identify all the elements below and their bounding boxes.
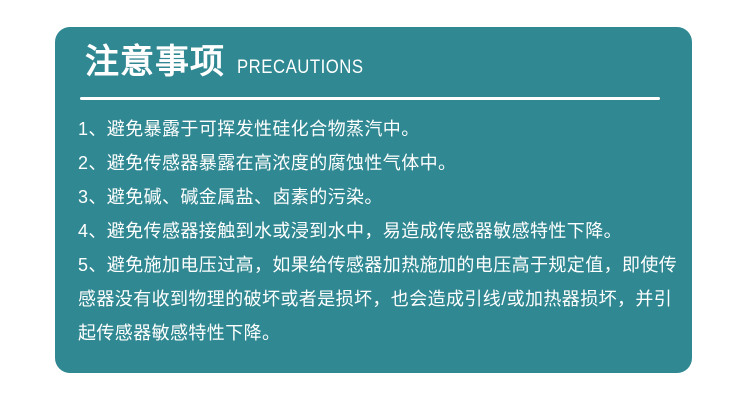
list-item: 3、避免碱、碱金属盐、卤素的污染。 bbox=[78, 180, 678, 214]
header-divider bbox=[80, 97, 660, 100]
precaution-list: 1、避免暴露于可挥发性硅化合物蒸汽中。 2、避免传感器暴露在高浓度的腐蚀性气体中… bbox=[78, 112, 678, 350]
list-item: 5、避免施加电压过高，如果给传感器加热施加的电压高于规定值，即使传感器没有收到物… bbox=[78, 248, 678, 350]
page-title-chinese: 注意事项 bbox=[85, 45, 225, 79]
precautions-card: 注意事项 PRECAUTIONS 1、避免暴露于可挥发性硅化合物蒸汽中。 2、避… bbox=[55, 27, 692, 373]
list-item: 4、避免传感器接触到水或浸到水中，易造成传感器敏感特性下降。 bbox=[78, 214, 678, 248]
list-item: 1、避免暴露于可挥发性硅化合物蒸汽中。 bbox=[78, 112, 678, 146]
card-header: 注意事项 PRECAUTIONS bbox=[85, 45, 381, 79]
list-item: 2、避免传感器暴露在高浓度的腐蚀性气体中。 bbox=[78, 146, 678, 180]
page-title-english: PRECAUTIONS bbox=[237, 58, 364, 77]
